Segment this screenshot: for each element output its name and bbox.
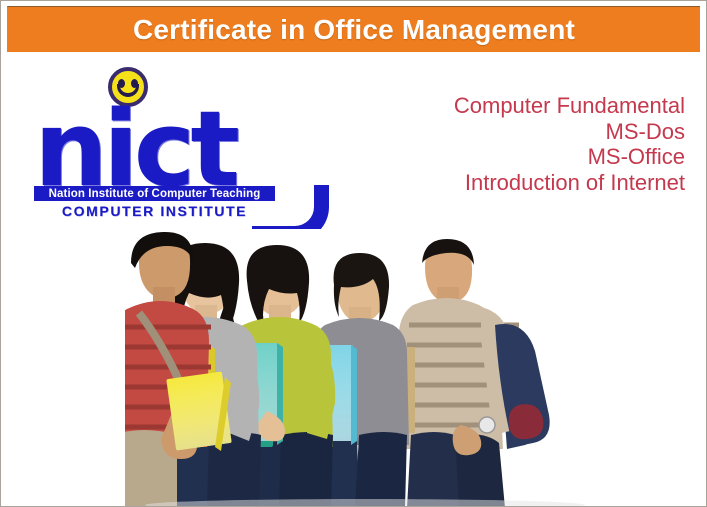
course-list: Computer Fundamental MS-Dos MS-Office In… bbox=[355, 93, 685, 195]
nict-logo: nict Nation Institute of Computer Teachi… bbox=[34, 67, 324, 227]
course-item-3: MS-Office bbox=[355, 144, 685, 170]
course-item-1: Computer Fundamental bbox=[355, 93, 685, 119]
student-1-folder bbox=[166, 371, 231, 451]
logo-tagline: Nation Institute of Computer Teaching bbox=[49, 188, 261, 200]
header-banner: Certificate in Office Management bbox=[7, 6, 700, 52]
course-item-4: Introduction of Internet bbox=[355, 170, 685, 196]
certificate-poster: Certificate in Office Management Compute… bbox=[0, 0, 707, 507]
page-title: Certificate in Office Management bbox=[133, 14, 575, 46]
students-photo bbox=[125, 229, 605, 507]
logo-sub-tagline: COMPUTER INSTITUTE bbox=[34, 203, 275, 219]
students-photo-illustration bbox=[125, 229, 605, 507]
course-item-2: MS-Dos bbox=[355, 119, 685, 145]
logo-tagline-bar: Nation Institute of Computer Teaching bbox=[34, 186, 275, 201]
